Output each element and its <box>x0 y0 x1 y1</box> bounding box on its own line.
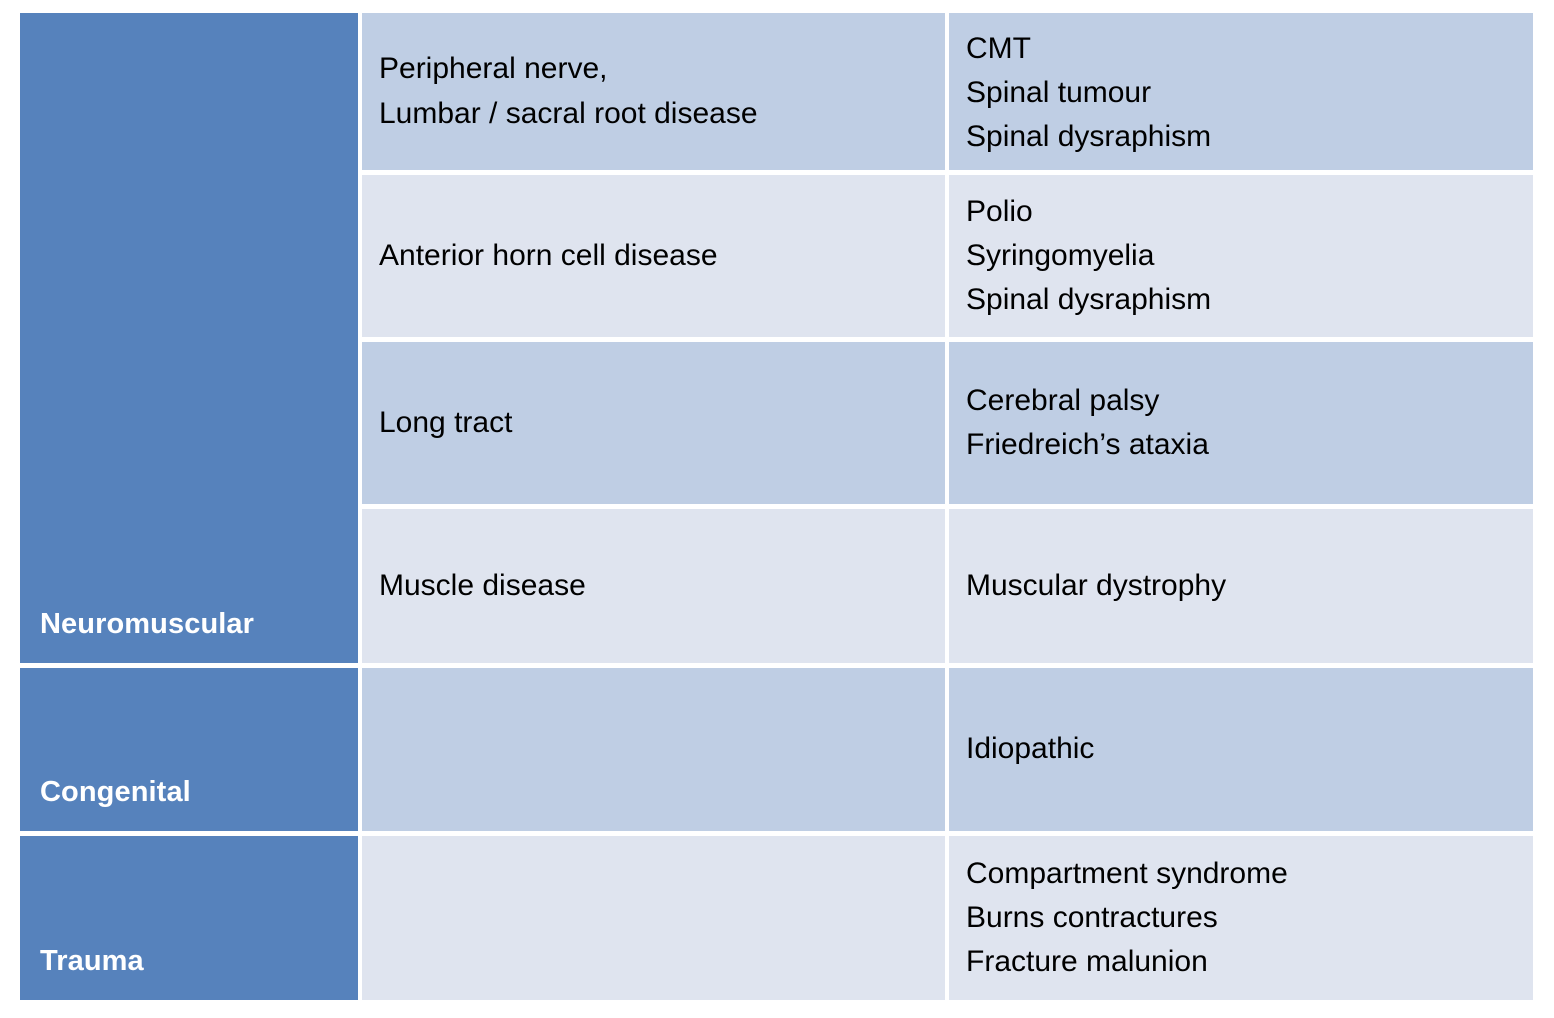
causes-table: Neuromuscular Congenital Trauma Peripher… <box>20 13 1533 1000</box>
examples-cell-muscle-disease: Muscular dystrophy <box>949 509 1533 663</box>
examples-cell-anterior-horn-cell: Polio Syringomyelia Spinal dysraphism <box>949 175 1533 337</box>
category-cell-neuromuscular: Neuromuscular <box>20 13 358 663</box>
examples-cell-congenital: Idiopathic <box>949 668 1533 831</box>
level-cell-congenital <box>362 668 945 831</box>
level-cell-anterior-horn-cell: Anterior horn cell disease <box>362 175 945 337</box>
examples-cell-peripheral-nerve: CMT Spinal tumour Spinal dysraphism <box>949 13 1533 170</box>
level-cell-peripheral-nerve: Peripheral nerve, Lumbar / sacral root d… <box>362 13 945 170</box>
category-cell-congenital: Congenital <box>20 668 358 831</box>
category-label: Congenital <box>40 775 191 809</box>
level-cell-muscle-disease: Muscle disease <box>362 509 945 663</box>
level-text: Anterior horn cell disease <box>379 234 718 278</box>
examples-text: Compartment syndrome Burns contractures … <box>966 852 1288 984</box>
level-text: Peripheral nerve, Lumbar / sacral root d… <box>379 47 758 135</box>
examples-text: Muscular dystrophy <box>966 564 1226 608</box>
category-cell-trauma: Trauma <box>20 836 358 1000</box>
examples-cell-long-tract: Cerebral palsy Friedreich’s ataxia <box>949 342 1533 504</box>
level-text: Muscle disease <box>379 564 586 608</box>
level-cell-trauma <box>362 836 945 1000</box>
examples-text: Cerebral palsy Friedreich’s ataxia <box>966 379 1209 467</box>
examples-text: Polio Syringomyelia Spinal dysraphism <box>966 190 1211 322</box>
examples-cell-trauma: Compartment syndrome Burns contractures … <box>949 836 1533 1000</box>
category-label: Trauma <box>40 944 144 978</box>
level-cell-long-tract: Long tract <box>362 342 945 504</box>
examples-text: CMT Spinal tumour Spinal dysraphism <box>966 27 1211 159</box>
category-label: Neuromuscular <box>40 607 254 641</box>
level-text: Long tract <box>379 401 512 445</box>
examples-text: Idiopathic <box>966 727 1094 771</box>
